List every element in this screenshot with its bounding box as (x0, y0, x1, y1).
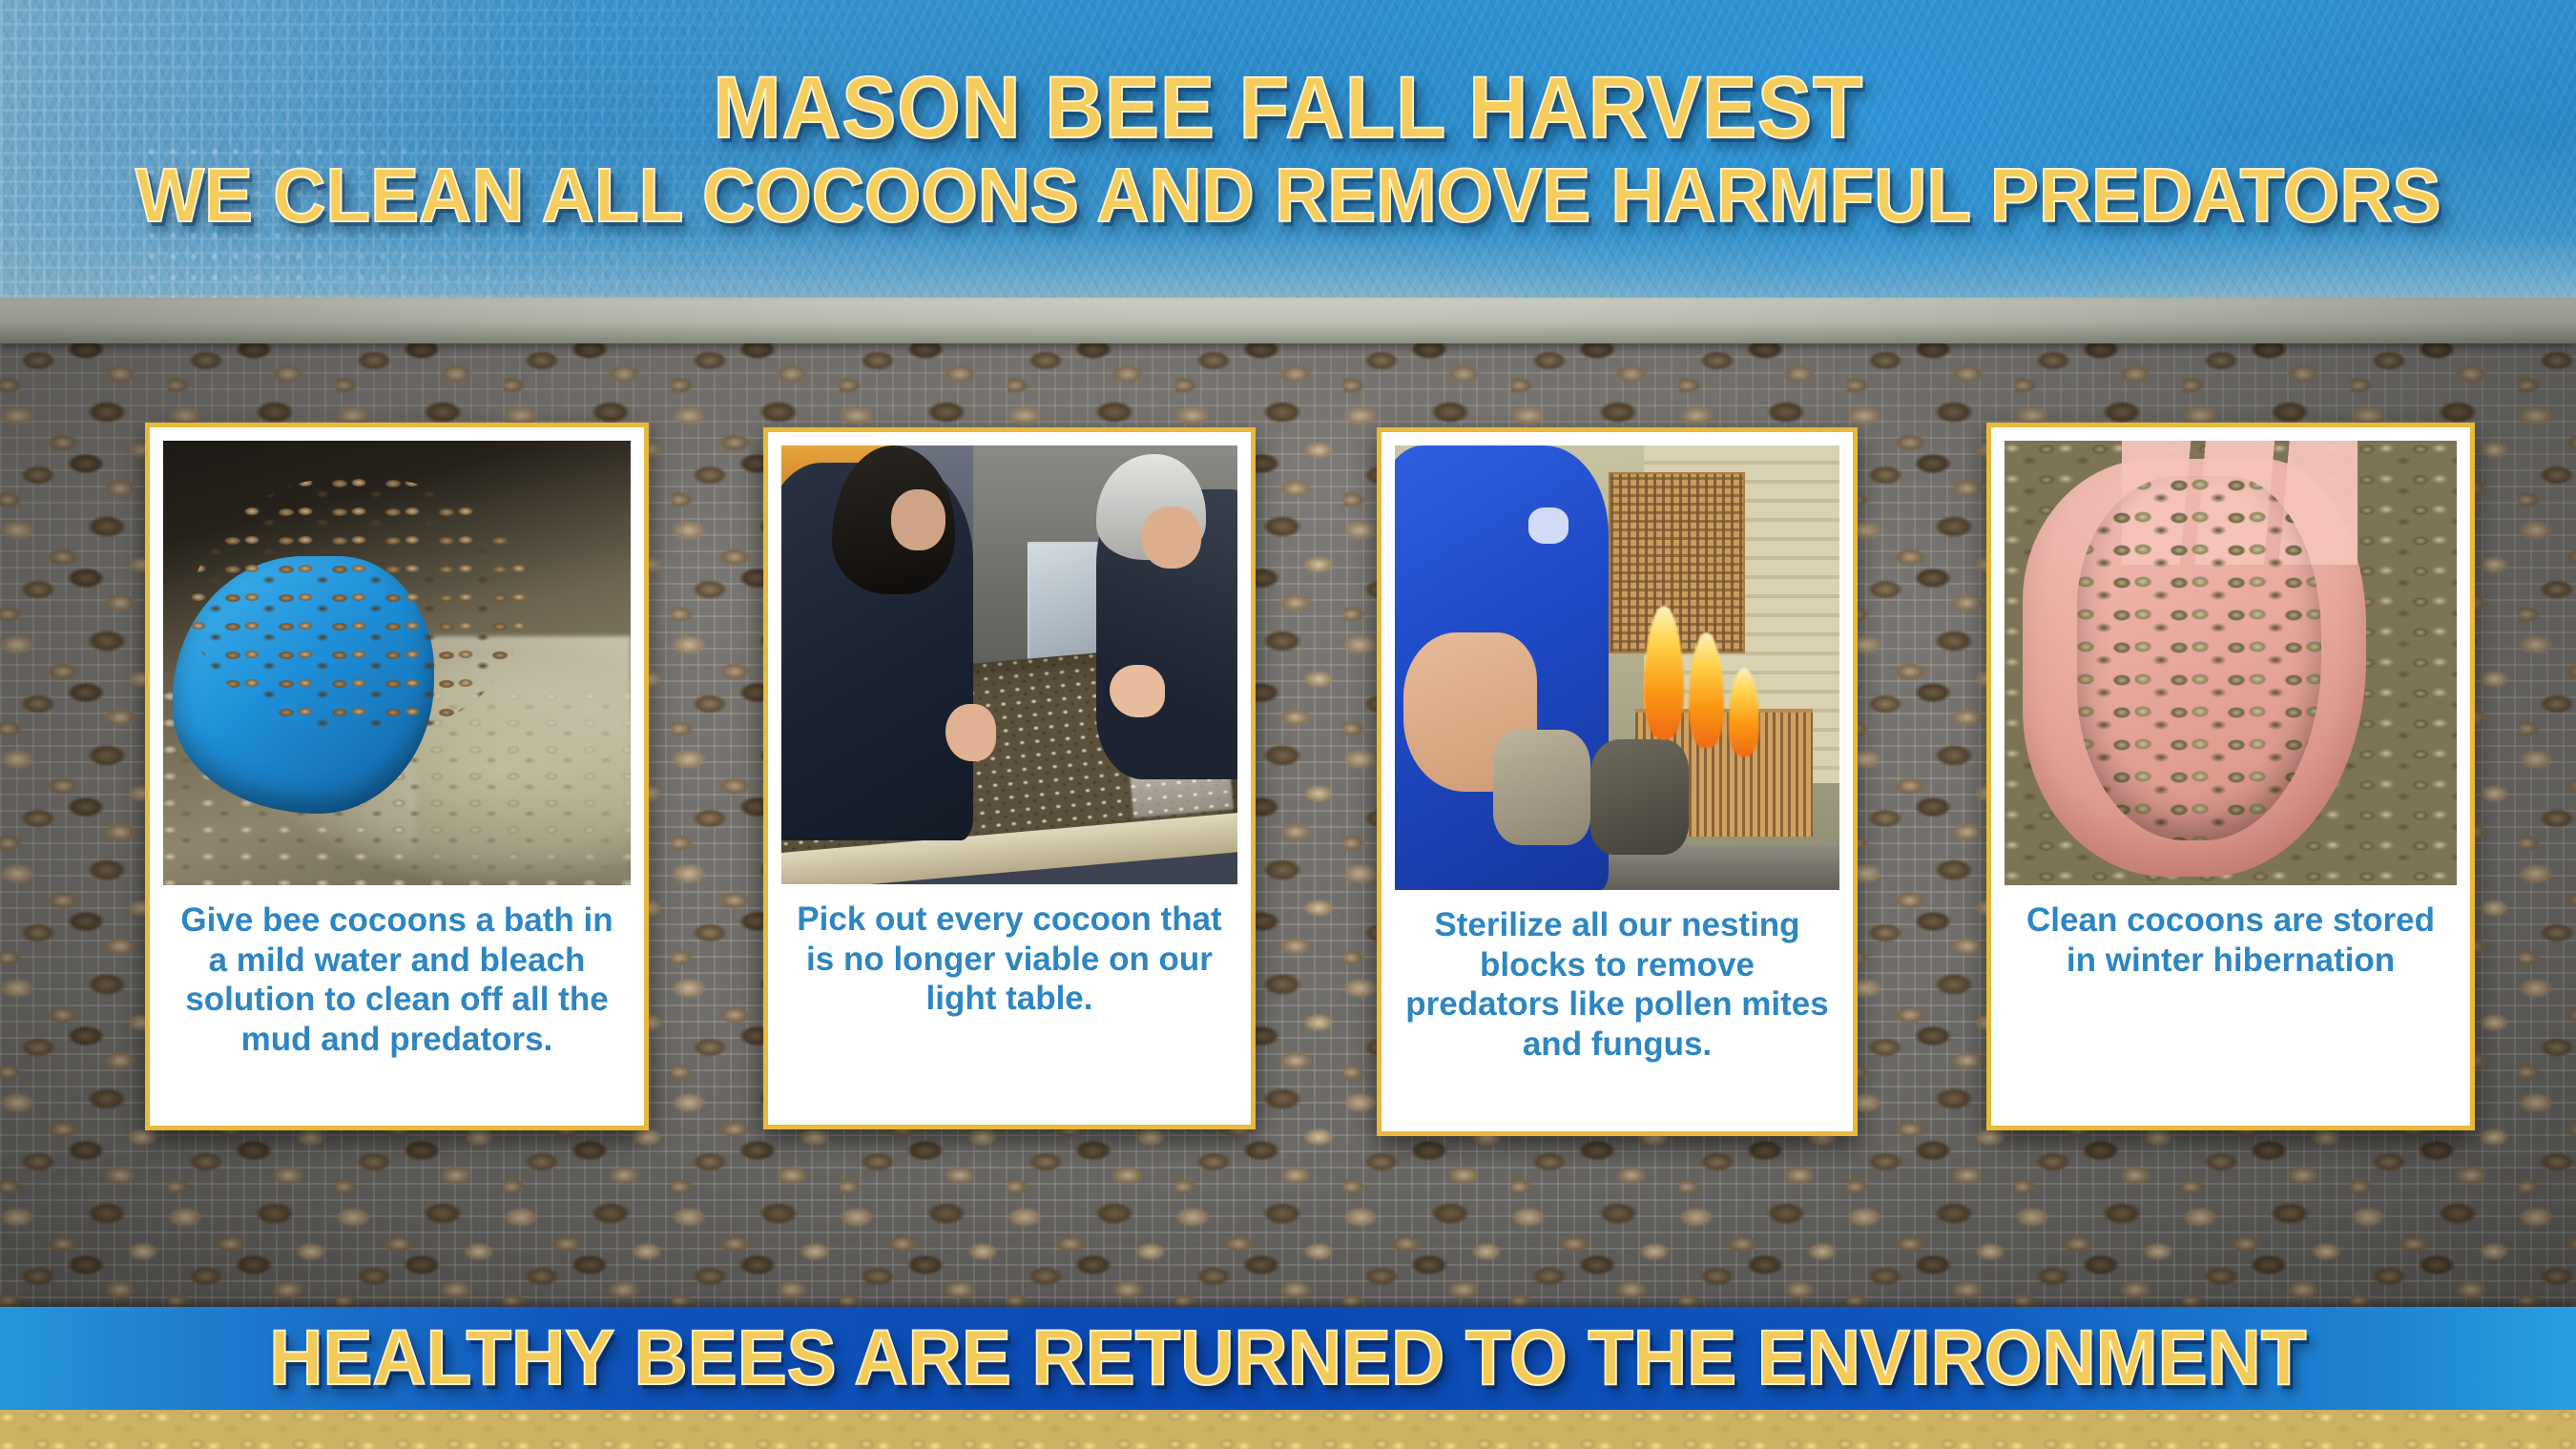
step-card-list: Give bee cocoons a bath in a mild water … (0, 0, 2576, 1449)
step-caption: Sterilize all our nesting blocks to remo… (1395, 890, 1839, 1122)
step-photo-light-table (781, 445, 1237, 884)
cocoon-handful-icon (2077, 476, 2321, 840)
work-glove-icon (1493, 730, 1591, 845)
step-caption: Pick out every cocoon that is no longer … (781, 884, 1237, 1115)
footer-cocoon-strip (0, 1410, 2576, 1449)
footer-banner: HEALTHY BEES ARE RETURNED TO THE ENVIRON… (0, 1307, 2576, 1410)
step-photo-sterilize-flame (1395, 445, 1839, 890)
step-card[interactable]: Sterilize all our nesting blocks to remo… (1377, 427, 1858, 1136)
step-photo-stored-cocoons (2005, 441, 2457, 885)
step-photo-scoop-bath (163, 441, 631, 885)
step-caption: Give bee cocoons a bath in a mild water … (163, 885, 631, 1116)
work-glove-icon-2 (1590, 739, 1689, 855)
footer-banner-text: HEALTHY BEES ARE RETURNED TO THE ENVIRON… (269, 1319, 2306, 1397)
step-card[interactable]: Give bee cocoons a bath in a mild water … (145, 423, 649, 1130)
step-card[interactable]: Clean cocoons are stored in winter hiber… (1986, 423, 2475, 1130)
infographic-poster: MASON BEE FALL HARVEST WE CLEAN ALL COCO… (0, 0, 2576, 1449)
step-caption: Clean cocoons are stored in winter hiber… (2005, 885, 2457, 1116)
step-card[interactable]: Pick out every cocoon that is no longer … (763, 427, 1256, 1129)
